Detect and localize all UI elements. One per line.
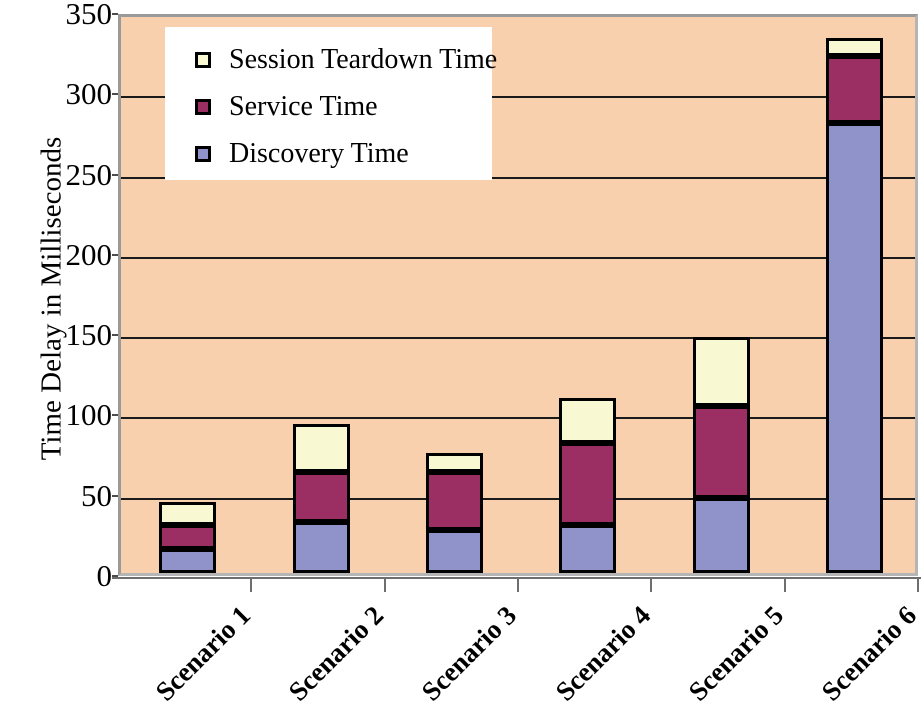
y-axis-tick-label: 100 xyxy=(12,399,112,430)
x-axis-tick-mark xyxy=(517,578,519,592)
legend-item[interactable]: Discovery Time xyxy=(195,135,409,173)
y-axis-tick-label: 250 xyxy=(12,159,112,190)
gridline xyxy=(121,417,915,419)
x-axis-tick-mark xyxy=(650,578,652,592)
legend-swatch-icon xyxy=(195,52,211,68)
bar-group[interactable] xyxy=(693,11,750,573)
legend-item-label: Discovery Time xyxy=(229,140,409,168)
y-axis-tick-label: 200 xyxy=(12,239,112,270)
x-axis-tick-mark xyxy=(917,578,919,592)
bar-segment[interactable] xyxy=(426,530,483,573)
bar-segment[interactable] xyxy=(559,398,616,443)
legend-item-label: Service Time xyxy=(229,93,378,121)
y-axis-tick-label: 0 xyxy=(12,560,112,591)
bar-group[interactable] xyxy=(559,11,616,573)
y-axis-tick-labels: 050100150200250300350 xyxy=(0,0,112,714)
gridline xyxy=(121,257,915,259)
x-axis-tick-mark xyxy=(384,578,386,592)
bar-segment[interactable] xyxy=(693,337,750,406)
y-axis-tick-label: 150 xyxy=(12,319,112,350)
bar-segment[interactable] xyxy=(159,549,216,573)
x-axis-tick-label: Scenario 3 xyxy=(416,600,523,707)
bar-segment[interactable] xyxy=(826,123,883,573)
x-axis-tick-mark xyxy=(250,578,252,592)
y-axis-tick-label: 50 xyxy=(12,480,112,511)
bar-segment[interactable] xyxy=(293,522,350,573)
y-axis-tick-label: 350 xyxy=(12,0,112,29)
legend-item[interactable]: Service Time xyxy=(195,88,378,126)
x-axis-tick-label: Scenario 5 xyxy=(683,600,790,707)
bar-segment[interactable] xyxy=(293,424,350,472)
gridline xyxy=(121,498,915,500)
bar-segment[interactable] xyxy=(159,525,216,549)
legend-item[interactable]: Session Teardown Time xyxy=(195,41,497,79)
x-axis-tick-label: Scenario 6 xyxy=(816,600,921,707)
x-axis-tick-label: Scenario 1 xyxy=(149,600,256,707)
bar-segment[interactable] xyxy=(159,502,216,524)
y-axis-tick-label: 300 xyxy=(12,78,112,109)
bar-segment[interactable] xyxy=(559,525,616,573)
x-axis-tick-label: Scenario 2 xyxy=(283,600,390,707)
bar-segment[interactable] xyxy=(559,443,616,525)
legend-swatch-icon xyxy=(195,146,211,162)
bar-segment[interactable] xyxy=(293,472,350,522)
bar-segment[interactable] xyxy=(426,453,483,472)
bar-segment[interactable] xyxy=(426,472,483,530)
bar-segment[interactable] xyxy=(693,498,750,573)
legend-swatch-icon xyxy=(195,99,211,115)
stacked-bar-chart: Time Delay in Milliseconds 0501001502002… xyxy=(0,0,921,714)
bar-group[interactable] xyxy=(826,11,883,573)
bar-segment[interactable] xyxy=(826,56,883,123)
legend-item-label: Session Teardown Time xyxy=(229,46,497,74)
x-axis-tick-label: Scenario 4 xyxy=(549,600,656,707)
chart-legend: Session Teardown TimeService TimeDiscove… xyxy=(165,27,492,180)
x-axis-tick-mark xyxy=(784,578,786,592)
bar-segment[interactable] xyxy=(826,38,883,56)
bar-segment[interactable] xyxy=(693,406,750,498)
gridline xyxy=(121,337,915,339)
